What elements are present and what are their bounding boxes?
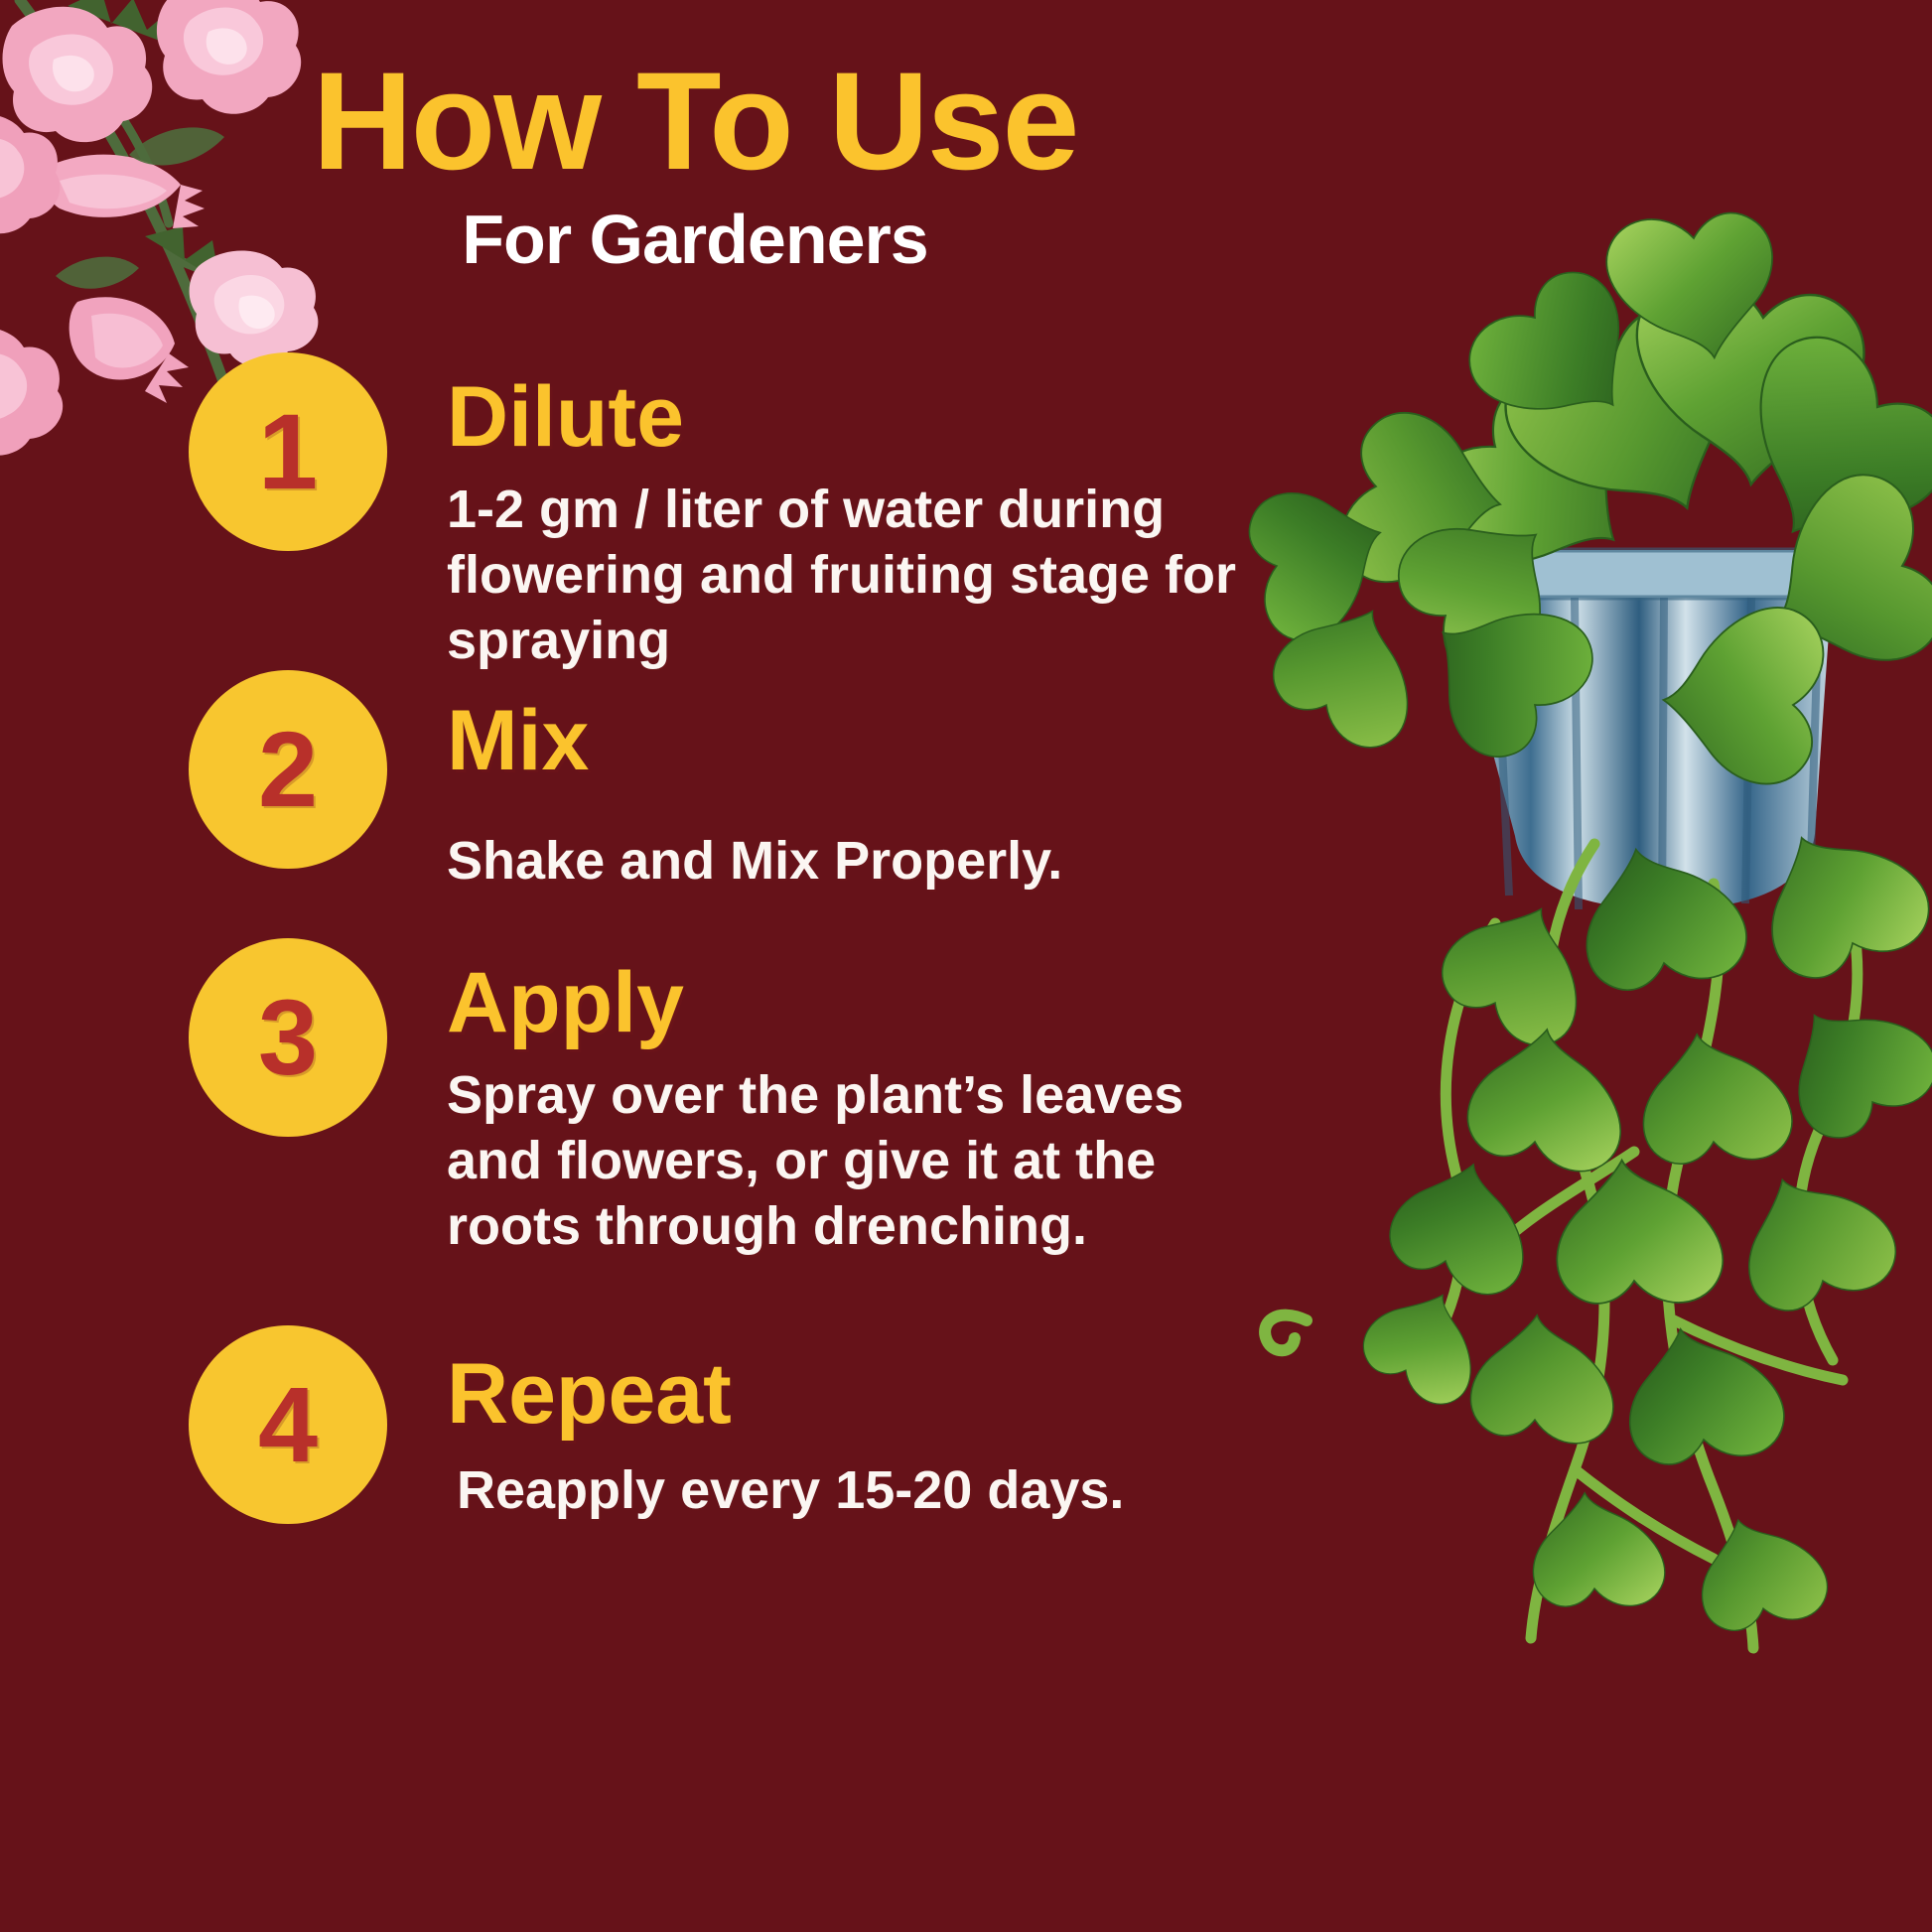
step-item-3: 3 Apply Spray over the plant’s leaves an… (0, 938, 1281, 1260)
step-body-1: Dilute 1-2 gm / liter of water during fl… (447, 352, 1281, 674)
step-body-2: Mix Shake and Mix Properly. (447, 670, 1062, 895)
step-number-1: 1 (258, 398, 318, 505)
step-number-badge-1: 1 (189, 352, 387, 551)
step-number-2: 2 (258, 716, 318, 823)
page-title: How To Use (0, 48, 1390, 194)
step-text-repeat: Reapply every 15-20 days. (447, 1458, 1124, 1524)
step-number-badge-2: 2 (189, 670, 387, 869)
step-number-3: 3 (258, 984, 318, 1091)
step-item-4: 4 Repeat Reapply every 15-20 days. (0, 1325, 1124, 1524)
poster-canvas: How To Use For Gardeners 1 Dilute 1-2 gm… (0, 0, 1932, 1932)
step-number-4: 4 (258, 1371, 318, 1478)
step-text-dilute: 1-2 gm / liter of water during flowering… (447, 478, 1281, 674)
step-heading-apply: Apply (447, 960, 1281, 1045)
step-item-1: 1 Dilute 1-2 gm / liter of water during … (0, 352, 1281, 674)
step-body-3: Apply Spray over the plant’s leaves and … (447, 938, 1281, 1260)
step-text-apply: Spray over the plant’s leaves and flower… (447, 1063, 1281, 1260)
step-body-4: Repeat Reapply every 15-20 days. (447, 1325, 1124, 1524)
step-heading-dilute: Dilute (447, 374, 1281, 460)
step-heading-mix: Mix (447, 698, 1062, 783)
plant-pot (1428, 550, 1853, 913)
step-number-badge-4: 4 (189, 1325, 387, 1524)
step-text-mix: Shake and Mix Properly. (447, 829, 1062, 895)
header: How To Use For Gardeners (0, 48, 1390, 279)
step-item-2: 2 Mix Shake and Mix Properly. (0, 670, 1062, 895)
step-heading-repeat: Repeat (447, 1351, 1124, 1437)
step-number-badge-3: 3 (189, 938, 387, 1137)
page-subtitle: For Gardeners (0, 200, 1390, 279)
